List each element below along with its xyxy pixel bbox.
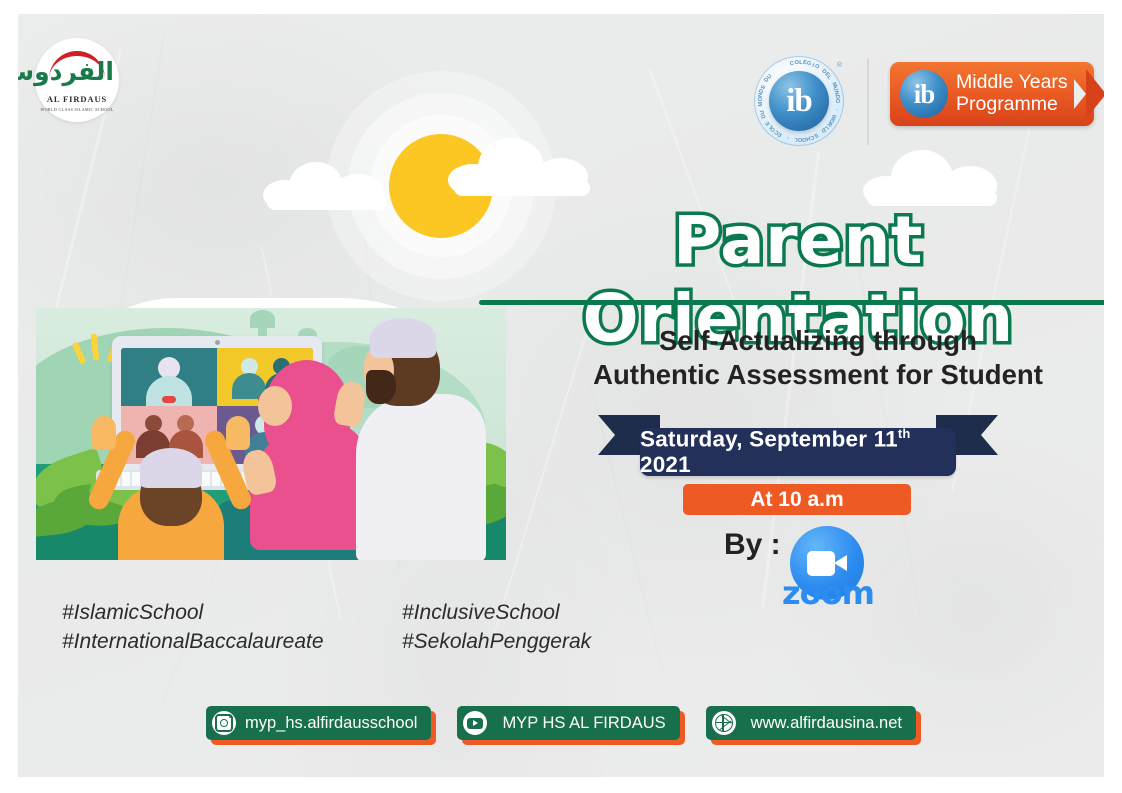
social-link-website[interactable]: www.alfirdausina.net [706, 706, 916, 740]
ib-myp-mark: ib [914, 81, 935, 108]
logo-arabic-text: الفردوس [40, 59, 114, 84]
registered-mark: ® [837, 62, 842, 69]
social-bar: myp_hs.alfirdausschool MYP HS AL FIRDAUS… [18, 706, 1104, 740]
cloud-icon-right [863, 148, 1023, 206]
page-subtitle: Self-Actualizing through Authentic Asses… [518, 324, 1104, 392]
ib-myp-icon: ib Middle Years Programme [890, 62, 1104, 126]
logo-school-name: AL FIRDAUS [40, 94, 114, 104]
school-logo: الفردوس AL FIRDAUS WORLD CLASS ISLAMIC S… [35, 38, 119, 122]
social-label: MYP HS AL FIRDAUS [502, 714, 665, 733]
youtube-icon [463, 711, 487, 735]
logo-tagline: WORLD CLASS ISLAMIC SCHOOL [40, 107, 114, 112]
social-label: myp_hs.alfirdausschool [245, 714, 417, 733]
social-link-instagram[interactable]: myp_hs.alfirdausschool [206, 706, 431, 740]
myp-line-2: Programme [956, 93, 1068, 115]
subtitle-line-1: Self-Actualizing through [518, 324, 1104, 358]
platform-label: By : [724, 528, 781, 562]
event-date-text: Saturday, September 11th 2021 [640, 426, 956, 479]
hashtag-item: #InternationalBaccalaureate [62, 627, 402, 656]
event-time-badge: At 10 a.m [683, 484, 911, 515]
title-underline [479, 300, 1104, 305]
hashtag-block: #IslamicSchool #InternationalBaccalaurea… [62, 598, 662, 656]
ib-mark: ib [786, 85, 812, 118]
ib-world-school-icon: COLEGIO DEL MUNDO · WORLD SCHOOL · ÉCOLE… [754, 56, 844, 146]
hashtag-item: #IslamicSchool [62, 598, 402, 627]
website-icon [712, 711, 736, 735]
poster-canvas: الفردوس AL FIRDAUS WORLD CLASS ISLAMIC S… [18, 14, 1104, 777]
header-divider [867, 59, 869, 145]
social-link-youtube[interactable]: MYP HS AL FIRDAUS [457, 706, 679, 740]
video-tile [121, 348, 217, 406]
event-time-text: At 10 a.m [750, 488, 843, 512]
social-label: www.alfirdausina.net [751, 714, 902, 733]
hashtag-item: #InclusiveSchool [402, 598, 662, 627]
myp-line-1: Middle Years [956, 71, 1068, 93]
hashtag-item: #SekolahPenggerak [402, 627, 662, 656]
subtitle-line-2: Authentic Assessment for Student [518, 358, 1104, 392]
event-date-banner: Saturday, September 11th 2021 [598, 415, 998, 477]
poster-root: الفردوس AL FIRDAUS WORLD CLASS ISLAMIC S… [0, 0, 1122, 793]
instagram-icon [212, 711, 236, 735]
family-video-call-illustration [36, 292, 506, 569]
zoom-wordmark: zoom [782, 574, 874, 612]
